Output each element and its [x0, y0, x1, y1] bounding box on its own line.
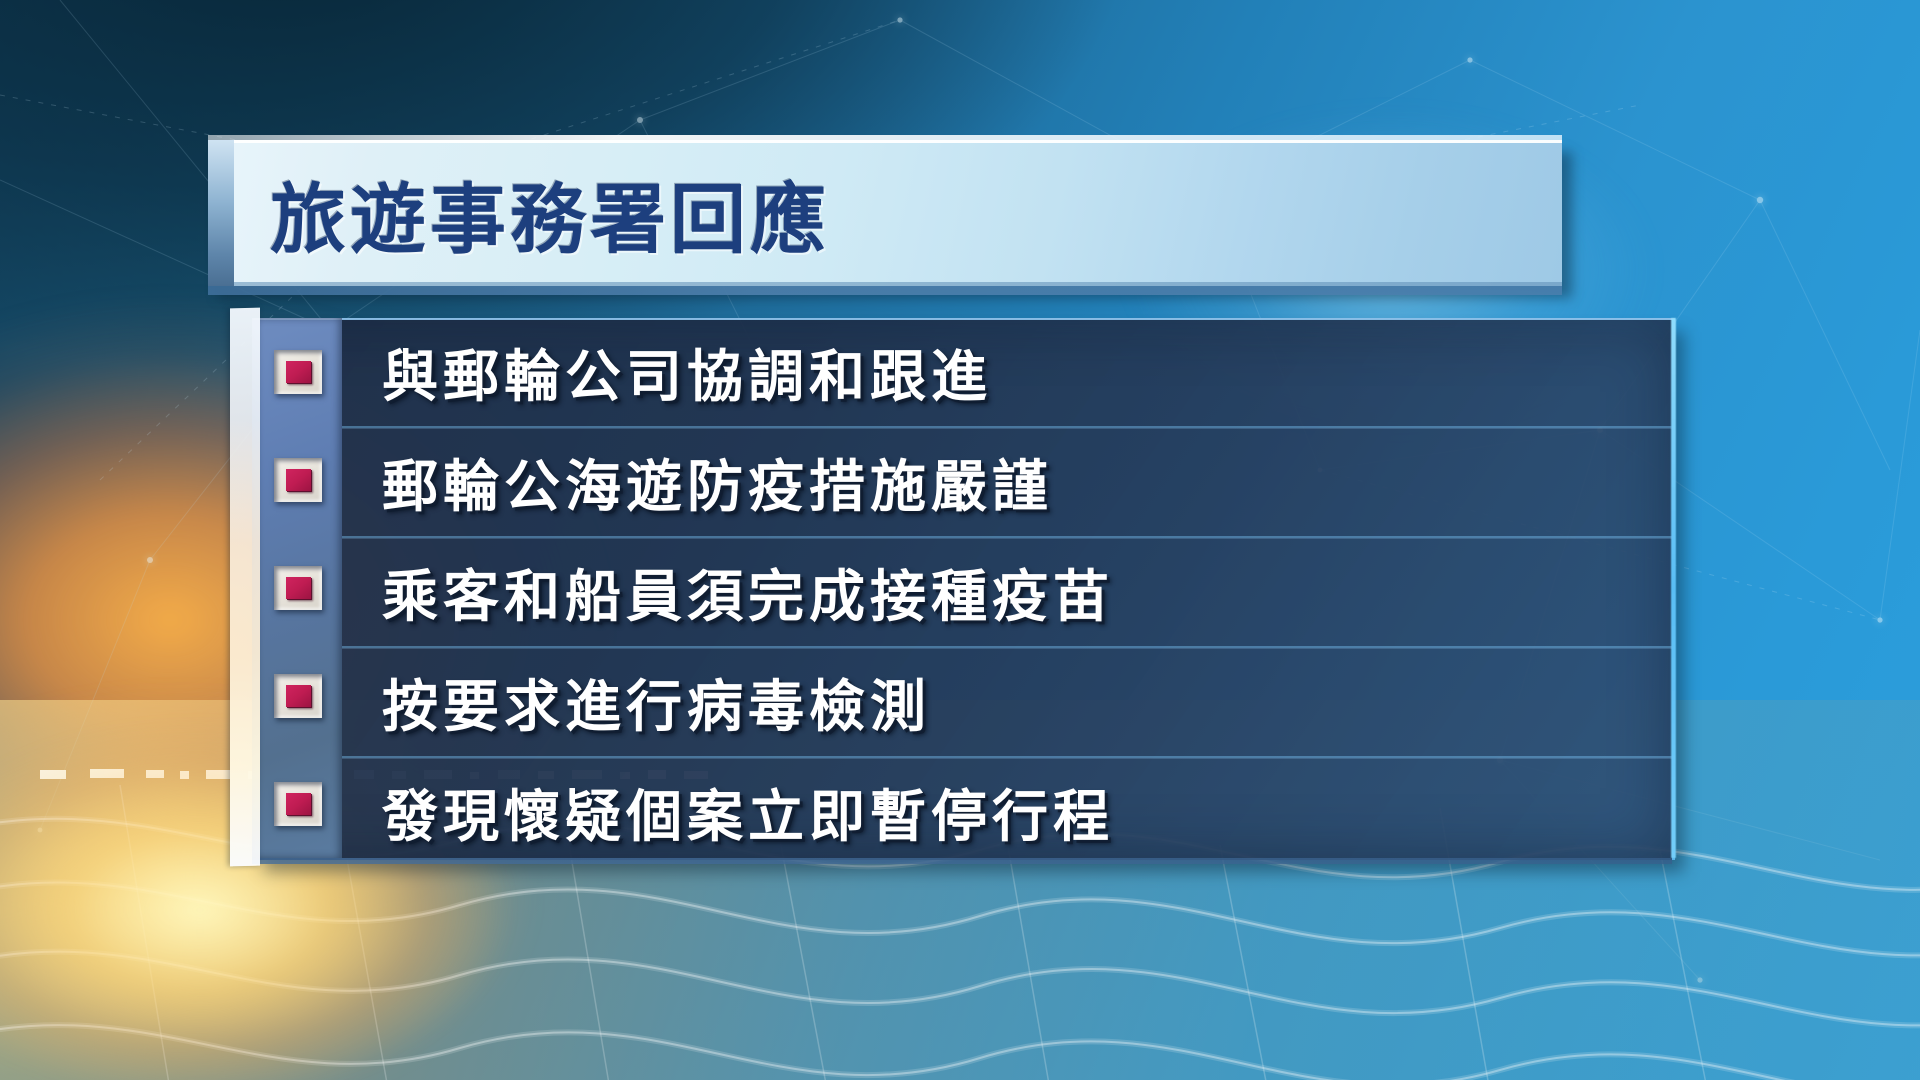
headline-banner-bottom-edge — [208, 286, 1562, 295]
page-title: 旅遊事務署回應 — [270, 158, 830, 268]
list-item-label: 乘客和船員須完成接種疫苗 — [382, 552, 1114, 633]
list-item: 發現懷疑個案立即暫停行程 — [342, 758, 1672, 866]
headline-banner-left-bevel — [208, 140, 234, 286]
filled-square-bullet-icon — [274, 566, 322, 610]
list-item: 按要求進行病毒檢測 — [342, 648, 1672, 758]
list-item-label: 發現懷疑個案立即暫停行程 — [382, 772, 1114, 853]
list-item-label: 與郵輪公司協調和跟進 — [382, 332, 992, 413]
list-item: 郵輪公海遊防疫措施嚴謹 — [342, 428, 1672, 538]
list-item: 乘客和船員須完成接種疫苗 — [342, 538, 1672, 648]
list-item-label: 郵輪公海遊防疫措施嚴謹 — [382, 442, 1053, 523]
list-item: 與郵輪公司協調和跟進 — [342, 318, 1672, 428]
filled-square-bullet-icon — [274, 782, 322, 826]
filled-square-bullet-icon — [274, 458, 322, 502]
filled-square-bullet-icon — [274, 350, 322, 394]
headline-banner: 旅遊事務署回應 — [208, 140, 1562, 286]
list-item-label: 按要求進行病毒檢測 — [382, 662, 931, 743]
bullet-list: 與郵輪公司協調和跟進 郵輪公海遊防疫措施嚴謹 乘客和船員須完成接種疫苗 按要求進… — [342, 318, 1672, 858]
bullet-panel: 與郵輪公司協調和跟進 郵輪公海遊防疫措施嚴謹 乘客和船員須完成接種疫苗 按要求進… — [252, 318, 1672, 858]
bullet-panel-left-bevel — [230, 308, 260, 867]
headline-banner-top-highlight — [208, 135, 1562, 140]
filled-square-bullet-icon — [274, 674, 322, 718]
